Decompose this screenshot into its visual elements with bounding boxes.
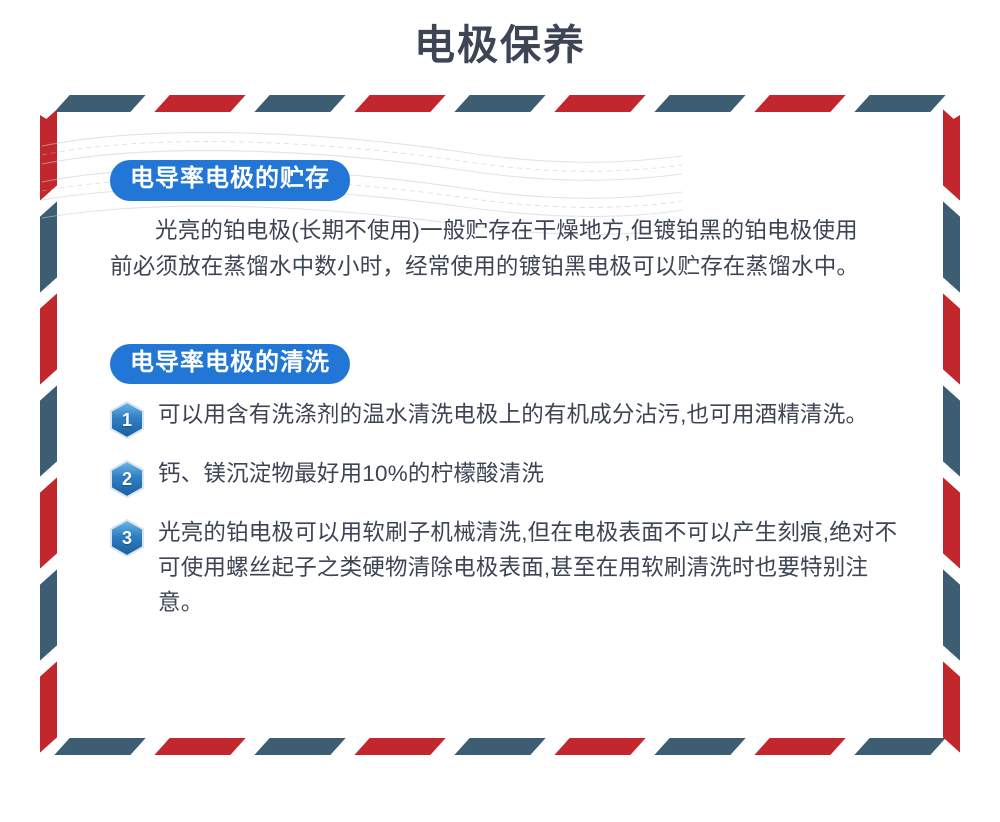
border-stripe-top	[554, 95, 645, 112]
border-stripe-right	[943, 201, 960, 292]
border-stripe-bottom	[454, 738, 545, 755]
border-stripe-left	[40, 477, 57, 568]
border-stripe-top	[54, 95, 145, 112]
list-item: 1 可以用含有洗涤剂的温水清洗电极上的有机成分沾污,也可用酒精清洗。	[110, 398, 900, 439]
hexagon-number-icon: 1	[110, 401, 144, 439]
border-stripe-bottom	[254, 738, 345, 755]
section-cleaning-badge-row: 电导率电极的清洗	[110, 344, 900, 385]
corner-accent-bottom-left	[40, 683, 57, 735]
border-stripe-bottom	[154, 738, 245, 755]
corner-accent-bottom-right	[943, 683, 960, 735]
border-stripe-left	[40, 201, 57, 292]
step-text: 光亮的铂电极可以用软刷子机械清洗,但在电极表面不可以产生刻痕,绝对不可使用螺丝起…	[158, 516, 898, 621]
border-stripe-top	[354, 95, 445, 112]
border-stripe-left	[40, 109, 57, 200]
section-storage: 电导率电极的贮存 光亮的铂电极(长期不使用)一般贮存在干燥地方,但镀铂黑的铂电极…	[110, 160, 900, 286]
border-stripe-bottom	[354, 738, 445, 755]
border-stripe-bottom	[754, 738, 845, 755]
border-stripe-bottom	[654, 738, 745, 755]
content-area: 电导率电极的贮存 光亮的铂电极(长期不使用)一般贮存在干燥地方,但镀铂黑的铂电极…	[110, 160, 900, 639]
border-stripe-top	[754, 95, 845, 112]
step-number: 3	[110, 519, 144, 557]
border-stripe-top	[254, 95, 345, 112]
border-stripe-bottom	[554, 738, 645, 755]
border-stripe-top	[854, 95, 945, 112]
border-stripe-right	[943, 109, 960, 200]
border-stripe-left	[40, 661, 57, 752]
cleaning-steps-list: 1 可以用含有洗涤剂的温水清洗电极上的有机成分沾污,也可用酒精清洗。	[110, 398, 900, 621]
border-stripe-top	[654, 95, 745, 112]
border-stripe-top	[454, 95, 545, 112]
border-stripe-bottom	[54, 738, 145, 755]
section-storage-badge: 电导率电极的贮存	[110, 160, 350, 201]
border-stripe-left	[40, 293, 57, 384]
border-stripe-left	[40, 385, 57, 476]
poster-page: 电极保养 电导率电极的贮存 光亮的铂电极(长期不使用)一般贮存在干燥地方,但镀铂	[0, 0, 1000, 822]
border-stripe-left	[40, 569, 57, 660]
step-number: 2	[110, 460, 144, 498]
step-number: 1	[110, 401, 144, 439]
section-cleaning: 电导率电极的清洗	[110, 344, 900, 621]
border-stripe-top	[154, 95, 245, 112]
section-storage-paragraph: 光亮的铂电极(长期不使用)一般贮存在干燥地方,但镀铂黑的铂电极使用前必须放在蒸馏…	[110, 213, 880, 286]
step-text: 钙、镁沉淀物最好用10%的柠檬酸清洗	[158, 457, 898, 492]
border-stripe-bottom	[854, 738, 945, 755]
border-stripe-right	[943, 293, 960, 384]
list-item: 3 光亮的铂电极可以用软刷子机械清洗,但在电极表面不可以产生刻痕,绝对不可使用螺…	[110, 516, 900, 621]
hexagon-number-icon: 3	[110, 519, 144, 557]
corner-accent-top-right	[943, 115, 960, 167]
page-title: 电极保养	[0, 18, 1000, 73]
border-stripe-right	[943, 661, 960, 752]
hexagon-number-icon: 2	[110, 460, 144, 498]
border-stripe-right	[943, 569, 960, 660]
border-stripe-right	[943, 477, 960, 568]
list-item: 2 钙、镁沉淀物最好用10%的柠檬酸清洗	[110, 457, 900, 498]
border-stripe-right	[943, 385, 960, 476]
step-text: 可以用含有洗涤剂的温水清洗电极上的有机成分沾污,也可用酒精清洗。	[158, 398, 898, 433]
corner-accent-top-left	[40, 115, 57, 167]
section-cleaning-badge: 电导率电极的清洗	[110, 344, 350, 385]
section-storage-badge-row: 电导率电极的贮存	[110, 160, 900, 201]
